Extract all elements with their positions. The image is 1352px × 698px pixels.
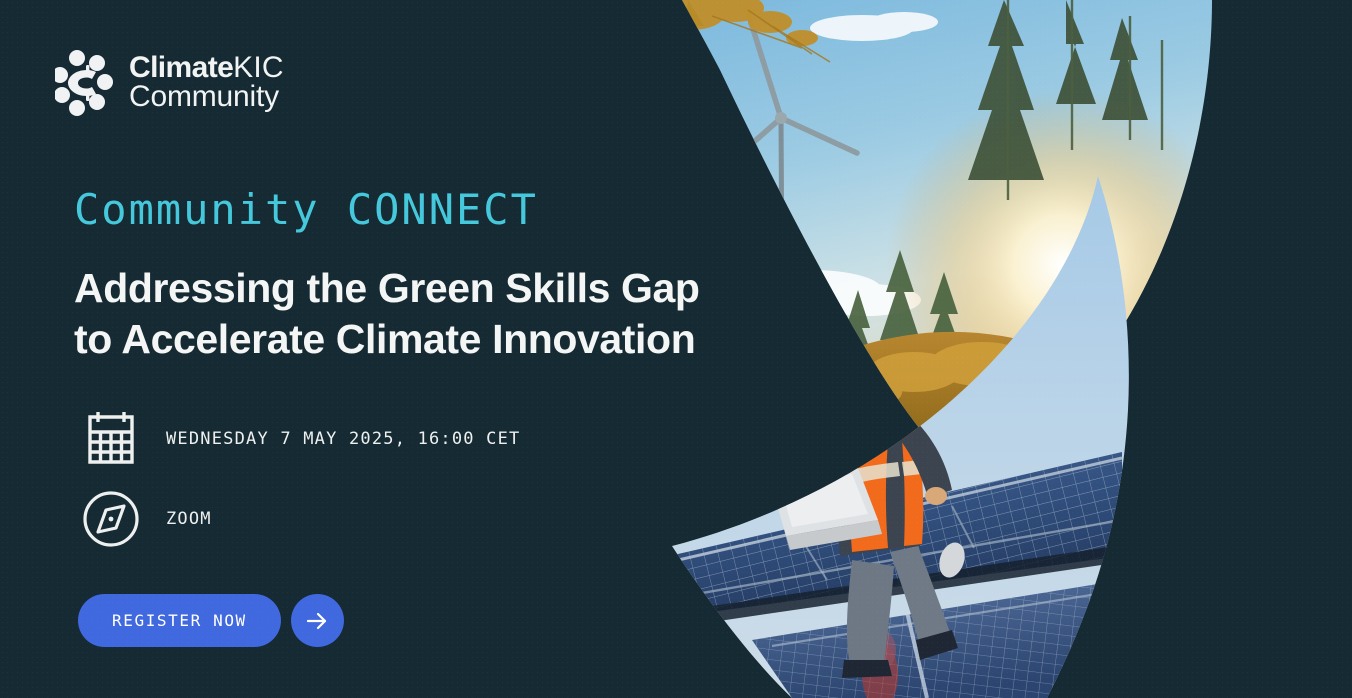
content-panel: ClimateKIC Community Community CONNECT A… — [0, 0, 800, 698]
event-banner: ClimateKIC Community Community CONNECT A… — [0, 0, 1352, 698]
headline-line-2: to Accelerate Climate Innovation — [74, 314, 700, 365]
event-date-text: WEDNESDAY 7 MAY 2025, 16:00 CET — [166, 429, 520, 449]
event-location-text: ZOOM — [166, 509, 212, 529]
register-arrow-button[interactable] — [291, 594, 344, 647]
logo-community-text: Community — [129, 83, 284, 112]
event-date-row: WEDNESDAY 7 MAY 2025, 16:00 CET — [80, 408, 520, 470]
headline-line-1: Addressing the Green Skills Gap — [74, 263, 700, 314]
calendar-icon — [80, 408, 142, 470]
compass-icon — [80, 488, 142, 550]
register-now-button[interactable]: REGISTER NOW — [78, 594, 281, 647]
climate-kic-mark-icon — [55, 50, 115, 116]
event-details: WEDNESDAY 7 MAY 2025, 16:00 CET ZOOM — [80, 408, 520, 550]
eyebrow-label: Community CONNECT — [74, 185, 538, 234]
arrow-right-icon — [303, 607, 331, 635]
page-title: Addressing the Green Skills Gap to Accel… — [74, 263, 700, 366]
brand-logo[interactable]: ClimateKIC Community — [55, 50, 284, 116]
brand-wordmark: ClimateKIC Community — [129, 54, 284, 112]
cta-group: REGISTER NOW — [78, 594, 344, 647]
event-location-row: ZOOM — [80, 488, 520, 550]
